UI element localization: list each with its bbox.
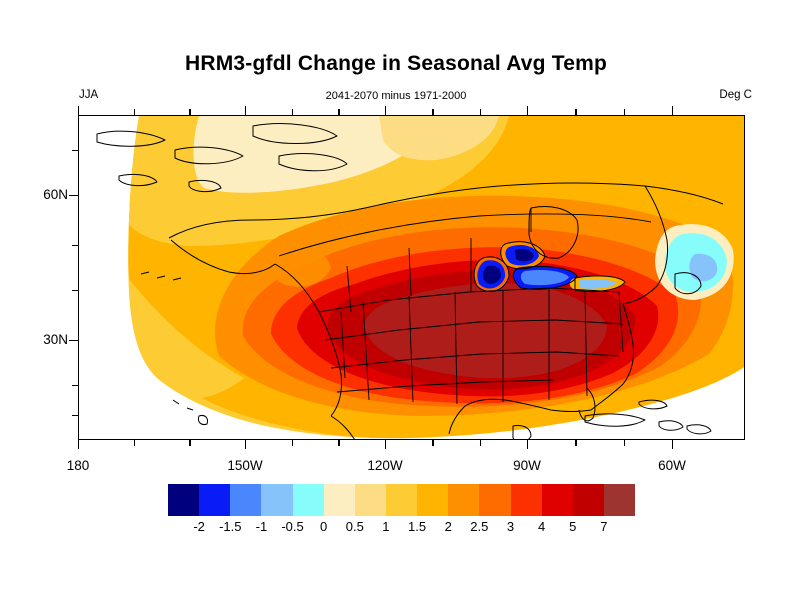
axis-tick <box>624 440 625 446</box>
axis-tick <box>72 245 78 246</box>
axis-tick <box>432 440 433 446</box>
colorbar-band <box>386 484 417 516</box>
axis-tick <box>338 109 339 115</box>
axis-tick <box>72 290 78 291</box>
axis-tick <box>624 109 625 115</box>
x-axis-label: 180 <box>43 458 113 473</box>
colorbar-band <box>261 484 292 516</box>
axis-tick <box>385 440 386 449</box>
x-axis-label: 90W <box>492 458 562 473</box>
axis-tick <box>672 440 673 449</box>
colorbar <box>168 484 635 516</box>
axis-tick <box>189 440 190 446</box>
axis-tick <box>69 340 78 341</box>
colorbar-band <box>324 484 355 516</box>
colorbar-band <box>448 484 479 516</box>
y-axis-label: 60N <box>14 187 68 202</box>
units-label: Deg C <box>719 89 752 101</box>
colorbar-band <box>479 484 510 516</box>
temperature-field <box>79 116 745 440</box>
axis-tick <box>78 106 79 115</box>
axis-tick <box>527 106 528 115</box>
x-axis-label: 120W <box>350 458 420 473</box>
axis-tick <box>575 440 576 446</box>
colorbar-band <box>168 484 199 516</box>
axis-tick <box>480 440 481 446</box>
axis-tick <box>72 150 78 151</box>
colorbar-band <box>604 484 635 516</box>
colorbar-band <box>230 484 261 516</box>
axis-tick <box>432 109 433 115</box>
colorbar-band <box>293 484 324 516</box>
axis-tick <box>385 106 386 115</box>
colorbar-tick-label: 7 <box>584 519 624 534</box>
axis-tick <box>134 109 135 115</box>
axis-tick <box>245 106 246 115</box>
axis-tick <box>292 109 293 115</box>
colorbar-band <box>573 484 604 516</box>
y-axis-label: 30N <box>14 332 68 347</box>
axis-tick <box>575 109 576 115</box>
axis-tick <box>78 440 79 449</box>
axis-tick <box>134 440 135 446</box>
axis-tick <box>72 415 78 416</box>
axis-tick <box>480 109 481 115</box>
colorbar-band <box>417 484 448 516</box>
colorbar-band <box>542 484 573 516</box>
map-canvas <box>79 116 745 440</box>
map-plot-area <box>78 115 745 440</box>
x-axis-label: 150W <box>210 458 280 473</box>
axis-tick <box>189 109 190 115</box>
axis-tick <box>72 385 78 386</box>
x-axis-label: 60W <box>637 458 707 473</box>
axis-tick <box>245 440 246 449</box>
axis-tick <box>338 440 339 446</box>
colorbar-band <box>511 484 542 516</box>
colorbar-band <box>355 484 386 516</box>
chart-title: HRM3-gfdl Change in Seasonal Avg Temp <box>0 52 792 76</box>
chart-subtitle: 2041-2070 minus 1971-2000 <box>0 90 792 102</box>
axis-tick <box>527 440 528 449</box>
axis-tick <box>69 195 78 196</box>
axis-tick <box>672 106 673 115</box>
colorbar-band <box>199 484 230 516</box>
axis-tick <box>292 440 293 446</box>
